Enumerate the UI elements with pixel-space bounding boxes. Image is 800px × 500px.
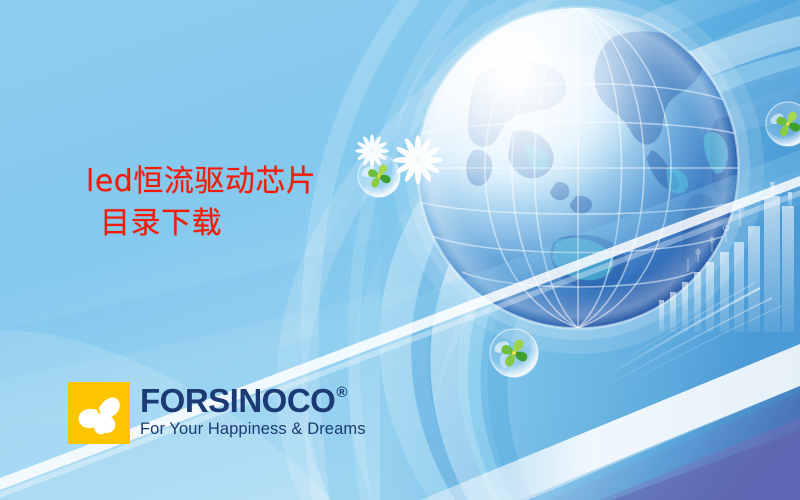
logo-text-block: FORSINOCO ® For Your Happiness & Dreams	[140, 382, 366, 439]
headline-line-2: 目录下载	[86, 205, 316, 243]
page-title: led恒流驱动芯片 目录下载	[86, 163, 316, 244]
logo-wordmark: FORSINOCO ®	[140, 384, 366, 417]
four-petal-pinwheel-icon	[68, 382, 130, 444]
registered-trademark-icon: ®	[336, 385, 347, 400]
logo-tagline: For Your Happiness & Dreams	[140, 420, 366, 439]
poster-canvas: led恒流驱动芯片 目录下载 FORSINOCO ®	[0, 0, 800, 500]
company-logo: FORSINOCO ® For Your Happiness & Dreams	[68, 382, 366, 444]
logo-wordmark-text: FORSINOCO	[140, 384, 335, 417]
headline-line-1: led恒流驱动芯片	[86, 164, 316, 199]
